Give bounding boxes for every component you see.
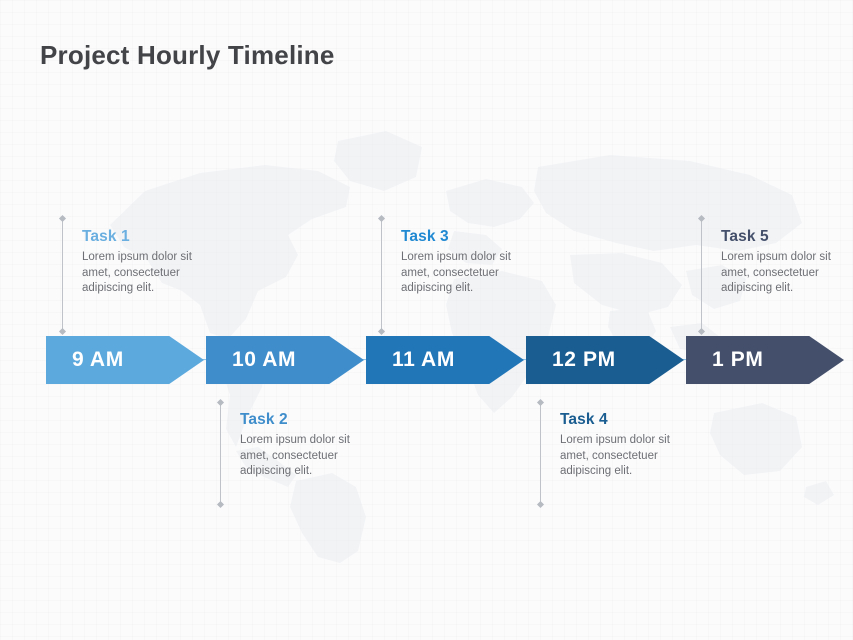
task-leader-line-3 bbox=[381, 218, 382, 332]
task-callout-3[interactable]: Task 3Lorem ipsum dolor sit amet, consec… bbox=[401, 228, 533, 297]
task-title: Task 1 bbox=[82, 228, 214, 246]
timeline-milestone-11-am[interactable]: 11 AM bbox=[366, 336, 524, 384]
timeline-milestone-1-pm[interactable]: 1 PM bbox=[686, 336, 844, 384]
task-title: Task 4 bbox=[560, 411, 692, 429]
milestone-label: 9 AM bbox=[72, 348, 124, 372]
task-title: Task 5 bbox=[721, 228, 853, 246]
task-leader-line-1 bbox=[62, 218, 63, 332]
timeline-milestone-12-pm[interactable]: 12 PM bbox=[526, 336, 684, 384]
world-map-background bbox=[50, 95, 840, 565]
milestone-label: 10 AM bbox=[232, 348, 296, 372]
timeline-milestone-9-am[interactable]: 9 AM bbox=[46, 336, 204, 384]
task-title: Task 3 bbox=[401, 228, 533, 246]
task-description: Lorem ipsum dolor sit amet, consectetuer… bbox=[401, 250, 533, 297]
timeline-chevron-row: 9 AM10 AM11 AM12 PM1 PM bbox=[0, 336, 853, 384]
task-callout-4[interactable]: Task 4Lorem ipsum dolor sit amet, consec… bbox=[560, 411, 692, 480]
task-leader-line-4 bbox=[540, 402, 541, 505]
slide-canvas: Project Hourly Timeline 9 AM10 AM11 AM12… bbox=[0, 0, 853, 640]
milestone-label: 12 PM bbox=[552, 348, 616, 372]
milestone-label: 1 PM bbox=[712, 348, 763, 372]
task-callout-1[interactable]: Task 1Lorem ipsum dolor sit amet, consec… bbox=[82, 228, 214, 297]
task-leader-line-2 bbox=[220, 402, 221, 505]
timeline-milestone-10-am[interactable]: 10 AM bbox=[206, 336, 364, 384]
page-title: Project Hourly Timeline bbox=[40, 40, 335, 71]
task-leader-line-5 bbox=[701, 218, 702, 332]
task-description: Lorem ipsum dolor sit amet, consectetuer… bbox=[82, 250, 214, 297]
milestone-label: 11 AM bbox=[392, 348, 455, 372]
task-callout-5[interactable]: Task 5Lorem ipsum dolor sit amet, consec… bbox=[721, 228, 853, 297]
task-description: Lorem ipsum dolor sit amet, consectetuer… bbox=[721, 250, 853, 297]
task-title: Task 2 bbox=[240, 411, 372, 429]
task-description: Lorem ipsum dolor sit amet, consectetuer… bbox=[240, 433, 372, 480]
task-callout-2[interactable]: Task 2Lorem ipsum dolor sit amet, consec… bbox=[240, 411, 372, 480]
task-description: Lorem ipsum dolor sit amet, consectetuer… bbox=[560, 433, 692, 480]
